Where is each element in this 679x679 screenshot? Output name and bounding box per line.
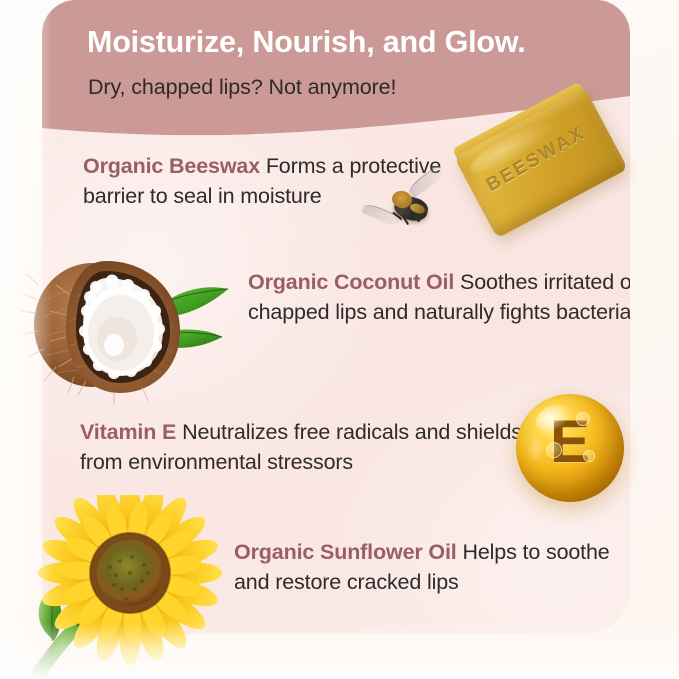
vitamin-e-secondary-highlight bbox=[527, 435, 544, 463]
vitamin-e-bubble bbox=[546, 442, 562, 458]
ingredient-vitamin-e: Vitamin E Neutralizes free radicals and … bbox=[80, 418, 560, 477]
coconut-icon bbox=[14, 245, 244, 405]
product-infographic: Moisturize, Nourish, and Glow. Dry, chap… bbox=[0, 0, 679, 679]
sunflower-icon bbox=[22, 495, 237, 679]
ingredient-sunflower-oil-name: Organic Sunflower Oil bbox=[234, 540, 462, 564]
vitamin-e-capsule-icon: E bbox=[516, 394, 624, 502]
ingredient-coconut-oil: Organic Coconut Oil Soothes irritated or… bbox=[248, 268, 630, 327]
vitamin-e-sphere: E bbox=[516, 394, 624, 502]
ingredient-beeswax-name: Organic Beeswax bbox=[83, 154, 266, 178]
bee-icon bbox=[380, 185, 442, 233]
ingredient-vitamin-e-name: Vitamin E bbox=[80, 420, 182, 444]
page-subtitle: Dry, chapped lips? Not anymore! bbox=[88, 76, 608, 100]
ingredient-coconut-oil-name: Organic Coconut Oil bbox=[248, 270, 460, 294]
page-title: Moisturize, Nourish, and Glow. bbox=[87, 26, 617, 58]
ingredient-sunflower-oil: Organic Sunflower Oil Helps to soothe an… bbox=[234, 538, 630, 597]
